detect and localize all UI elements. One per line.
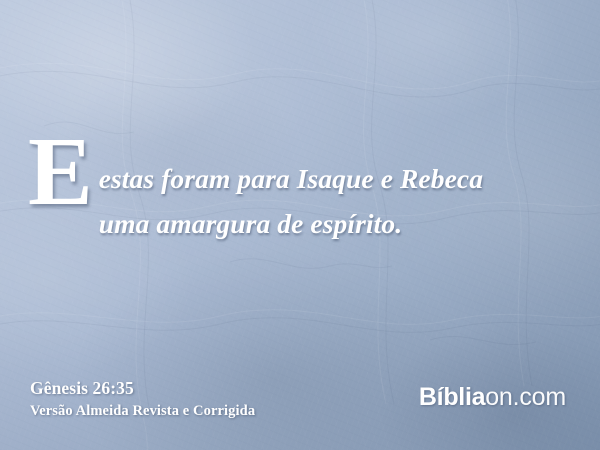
verse-text-block: E estas foram para Isaque e Rebeca uma a…: [28, 112, 574, 246]
reference-block: Gênesis 26:35 Versão Almeida Revista e C…: [30, 376, 255, 422]
verse-image-card: E estas foram para Isaque e Rebeca uma a…: [0, 0, 600, 450]
logo-word-biblia: Bíblia: [419, 383, 485, 411]
bible-version: Versão Almeida Revista e Corrigida: [30, 400, 255, 422]
verse-dropcap: E: [28, 123, 93, 220]
verse-line-2: uma amargura de espírito.: [28, 201, 574, 246]
footer: Gênesis 26:35 Versão Almeida Revista e C…: [0, 358, 600, 450]
verse-line-1: estas foram para Isaque e Rebeca: [28, 112, 574, 201]
bibliaon-logo[interactable]: Bíbliaon.com: [419, 385, 566, 410]
verse-reference: Gênesis 26:35: [30, 376, 255, 400]
logo-word-oncom: on.com: [485, 383, 566, 411]
